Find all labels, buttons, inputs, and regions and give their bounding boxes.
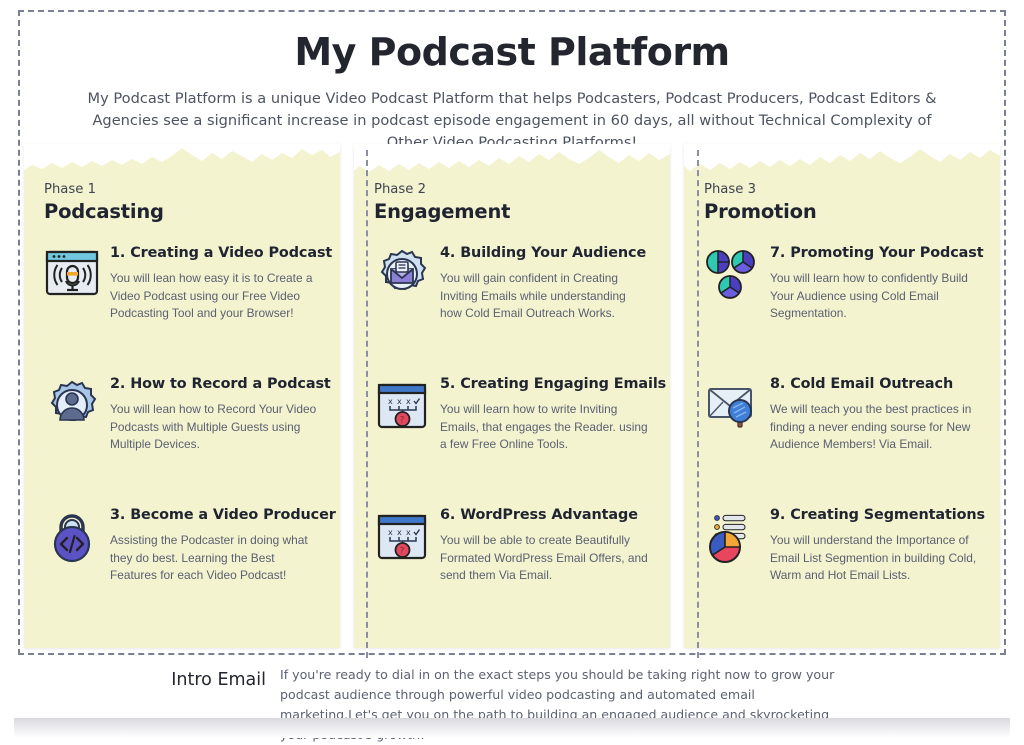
svg-text:x: x (388, 397, 393, 406)
column-divider (697, 150, 699, 658)
list-item: x x x ? 5. Creating Engaging Emails (374, 376, 650, 507)
window-checklist-icon: x x x ? (374, 376, 430, 507)
gear-person-icon (44, 376, 100, 507)
list-item-text: 6. WordPress Advantage You will be able … (440, 507, 650, 638)
list-item-text: 9. Creating Segmentations You will under… (770, 507, 980, 638)
list-item-text: 1. Creating a Video Podcast You will lea… (110, 245, 320, 376)
padlock-code-icon (44, 507, 100, 638)
svg-text:x: x (397, 528, 402, 537)
list-item-description: You will learn how to confidently Build … (770, 270, 980, 323)
list-item-text: 7. Promoting Your Podcast You will learn… (770, 245, 980, 376)
browser-microphone-icon (44, 245, 100, 376)
list-item-text: 5. Creating Engaging Emails You will lea… (440, 376, 650, 507)
svg-text:x: x (397, 397, 402, 406)
list-item-description: You will lean how to Record Your Video P… (110, 401, 320, 454)
column-content-2: Phase 2 Engagement (354, 144, 670, 648)
list-item-text: 3. Become a Video Producer Assisting the… (110, 507, 320, 638)
svg-text:?: ? (400, 416, 405, 426)
bottom-shadow (14, 718, 1010, 738)
list-item-title: 8. Cold Email Outreach (770, 376, 980, 392)
list-item-text: 2. How to Record a Podcast You will lean… (110, 376, 320, 507)
gear-envelope-icon (374, 245, 430, 376)
phase-title-2: Engagement (374, 200, 650, 223)
phase-title-3: Promotion (704, 200, 980, 223)
infographic-frame: My Podcast Platform My Podcast Platform … (18, 10, 1006, 655)
list-item-title: 2. How to Record a Podcast (110, 376, 320, 392)
footer: Intro Email If you're ready to dial in o… (0, 660, 1024, 720)
phase-column-3: Phase 3 Promotion (684, 144, 1000, 648)
envelope-magnifier-icon (704, 376, 760, 507)
list-item: 9. Creating Segmentations You will under… (704, 507, 980, 638)
phase-label-2: Phase 2 (374, 182, 650, 197)
footer-label: Intro Email (0, 660, 280, 690)
list-item: 1. Creating a Video Podcast You will lea… (44, 245, 320, 376)
list-item-title: 6. WordPress Advantage (440, 507, 650, 523)
phase-column-1: Phase 1 Podcasting (24, 144, 340, 648)
list-item-title: 5. Creating Engaging Emails (440, 376, 650, 392)
column-content-3: Phase 3 Promotion (684, 144, 1000, 648)
three-pie-charts-icon (704, 245, 760, 376)
list-item: 2. How to Record a Podcast You will lean… (44, 376, 320, 507)
pie-chart-legend-icon (704, 507, 760, 638)
page-title: My Podcast Platform (20, 30, 1004, 74)
column-content-1: Phase 1 Podcasting (24, 144, 340, 648)
list-item-description: Assisting the Podcaster in doing what th… (110, 532, 320, 585)
svg-text:x: x (388, 528, 393, 537)
header: My Podcast Platform My Podcast Platform … (20, 12, 1004, 154)
list-item: 8. Cold Email Outreach We will teach you… (704, 376, 980, 507)
list-item: 7. Promoting Your Podcast You will learn… (704, 245, 980, 376)
window-checklist-icon: x x x ? (374, 507, 430, 638)
phase-title-1: Podcasting (44, 200, 320, 223)
list-item-description: You will lean how easy it is to Create a… (110, 270, 320, 323)
list-item-title: 1. Creating a Video Podcast (110, 245, 320, 261)
svg-text:x: x (406, 397, 411, 406)
list-item: 3. Become a Video Producer Assisting the… (44, 507, 320, 638)
list-item-text: 4. Building Your Audience You will gain … (440, 245, 650, 376)
column-divider (366, 150, 368, 658)
list-item-title: 7. Promoting Your Podcast (770, 245, 980, 261)
list-item: 4. Building Your Audience You will gain … (374, 245, 650, 376)
list-item-description: You will learn how to write Inviting Ema… (440, 401, 650, 454)
list-item-description: You will gain confident in Creating Invi… (440, 270, 650, 323)
list-item-title: 3. Become a Video Producer (110, 507, 320, 523)
list-item-description: We will teach you the best practices in … (770, 401, 980, 454)
phase-column-2: Phase 2 Engagement (354, 144, 670, 648)
svg-text:x: x (406, 528, 411, 537)
svg-text:?: ? (400, 547, 405, 557)
list-item-description: You will be able to create Beautifully F… (440, 532, 650, 585)
list-item-title: 4. Building Your Audience (440, 245, 650, 261)
list-item-text: 8. Cold Email Outreach We will teach you… (770, 376, 980, 507)
list-item: x x x ? 6. WordPress Advantage (374, 507, 650, 638)
list-item-description: You will understand the Importance of Em… (770, 532, 980, 585)
phase-label-1: Phase 1 (44, 182, 320, 197)
phase-columns: Phase 1 Podcasting (20, 144, 1004, 654)
list-item-title: 9. Creating Segmentations (770, 507, 980, 523)
phase-label-3: Phase 3 (704, 182, 980, 197)
